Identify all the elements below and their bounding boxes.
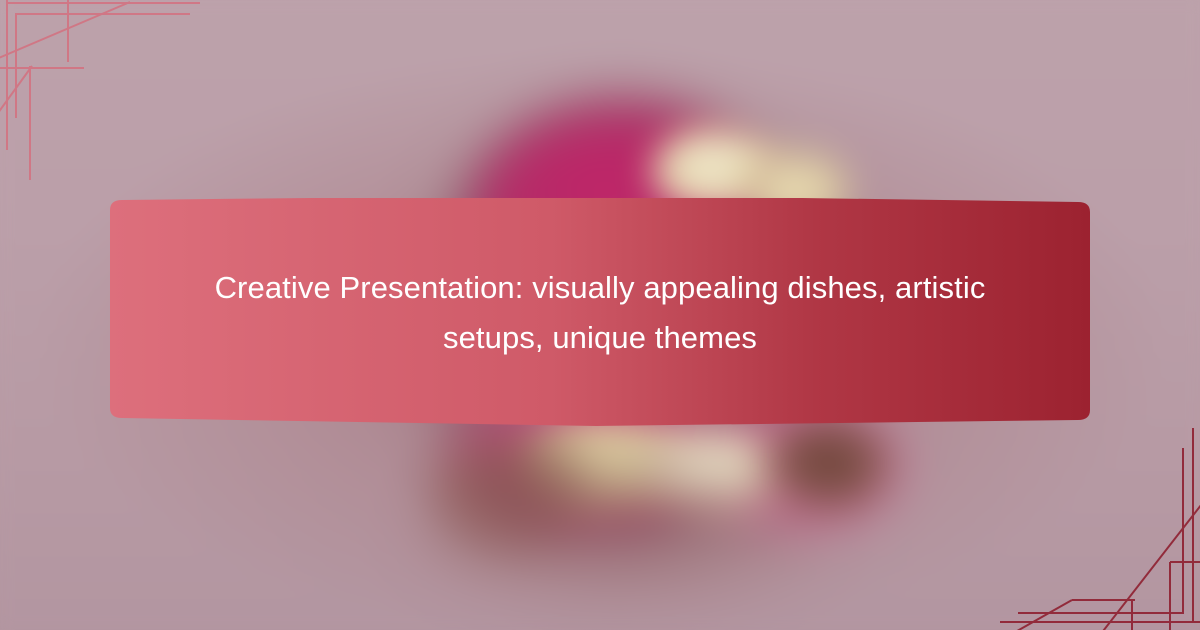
banner-headline-text: Creative Presentation: visually appealin…: [96, 198, 1104, 428]
banner-canvas: Creative Presentation: visually appealin…: [0, 0, 1200, 630]
headline-banner: Creative Presentation: visually appealin…: [96, 198, 1104, 428]
